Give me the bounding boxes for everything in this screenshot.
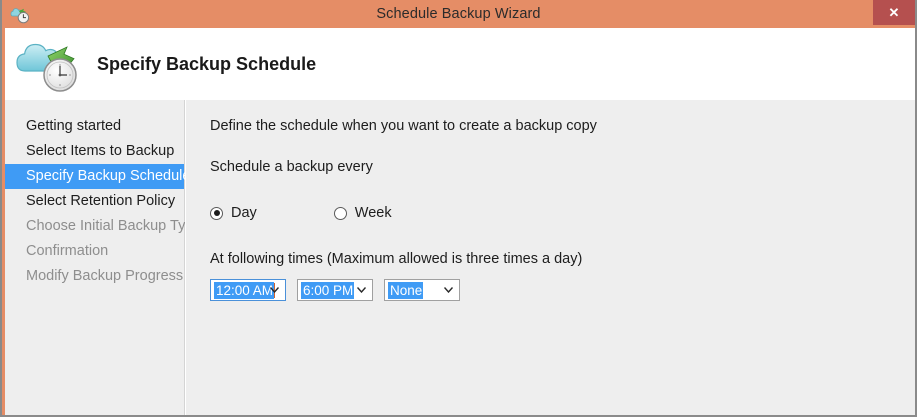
radio-label-week: Week [355, 205, 392, 221]
radio-option-week[interactable]: Week [334, 205, 392, 221]
wizard-body: Getting started Select Items to Backup S… [5, 100, 915, 415]
radio-indicator-day [210, 207, 223, 220]
time-select-3[interactable]: None [384, 279, 460, 301]
time-select-2-value: 6:00 PM [301, 282, 354, 299]
sidebar-item-modify-backup-progress: Modify Backup Progress [5, 264, 184, 289]
cloud-clock-icon [10, 4, 31, 25]
radio-indicator-week [334, 207, 347, 220]
sidebar-item-select-items[interactable]: Select Items to Backup [5, 139, 184, 164]
window-title: Schedule Backup Wizard [376, 6, 540, 22]
schedule-description: Define the schedule when you want to cre… [210, 118, 915, 134]
schedule-backup-wizard-window: Schedule Backup Wizard ✕ [0, 0, 917, 417]
titlebar: Schedule Backup Wizard ✕ [2, 0, 915, 29]
time-select-2[interactable]: 6:00 PM [297, 279, 373, 301]
chevron-down-icon[interactable] [444, 280, 453, 300]
chevron-down-icon[interactable] [357, 280, 366, 300]
time-select-1-value: 12:00 AM [214, 282, 274, 299]
sidebar-item-retention-policy[interactable]: Select Retention Policy [5, 189, 184, 214]
sidebar-item-getting-started[interactable]: Getting started [5, 114, 184, 139]
sidebar-item-initial-backup-type: Choose Initial Backup Type [5, 214, 184, 239]
page-header: Specify Backup Schedule [5, 28, 915, 100]
time-select-1[interactable]: 12:00 AM [210, 279, 286, 301]
wizard-content: Define the schedule when you want to cre… [185, 100, 915, 415]
frequency-label: Schedule a backup every [210, 159, 915, 175]
radio-label-day: Day [231, 205, 257, 221]
times-label: At following times (Maximum allowed is t… [210, 251, 915, 267]
time-select-3-value: None [388, 282, 423, 299]
radio-option-day[interactable]: Day [210, 205, 257, 221]
close-button[interactable]: ✕ [873, 0, 915, 25]
time-select-row: 12:00 AM 6:00 PM None [210, 279, 915, 301]
sidebar-item-confirmation: Confirmation [5, 239, 184, 264]
chevron-down-icon[interactable] [270, 280, 279, 300]
cloud-backup-clock-icon [15, 33, 89, 95]
frequency-radio-group: Day Week [210, 205, 915, 221]
sidebar-item-specify-schedule[interactable]: Specify Backup Schedule [5, 164, 184, 189]
wizard-sidebar: Getting started Select Items to Backup S… [5, 100, 185, 415]
window-frame: Specify Backup Schedule Getting started … [2, 28, 915, 415]
page-title: Specify Backup Schedule [97, 54, 316, 75]
